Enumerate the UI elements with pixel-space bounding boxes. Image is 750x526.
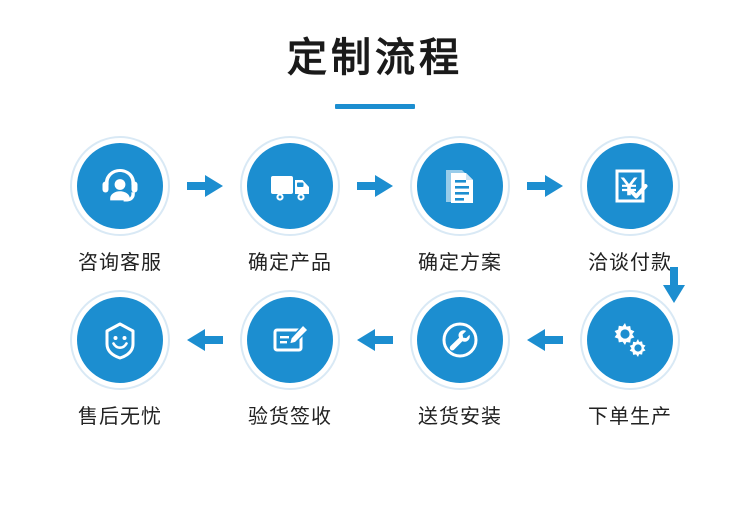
flow-step-inspection[interactable]: 验货签收 [234, 297, 346, 429]
arrow-right-icon [187, 175, 223, 197]
arrow-left-icon [527, 329, 563, 351]
wrench-install-icon [435, 315, 485, 365]
connector-arrow-down [654, 265, 694, 305]
flow-step-install[interactable]: 送货安装 [404, 297, 516, 429]
connector-arrow-left [176, 297, 234, 383]
flow-step-icon-circle [77, 297, 163, 383]
arrow-right-icon [527, 175, 563, 197]
flow-step-label: 验货签收 [248, 400, 332, 429]
payment-yuan-check-icon [605, 161, 655, 211]
flow-step-label: 下单生产 [588, 400, 672, 429]
flow-step-label: 咨询客服 [78, 246, 162, 275]
connector-arrow-right [516, 143, 574, 229]
connector-arrow-left [346, 297, 404, 383]
truck-delivery-icon [265, 161, 315, 211]
flow-step-aftersales[interactable]: 售后无忧 [64, 297, 176, 429]
shield-smile-icon [95, 315, 145, 365]
flow-step-label: 送货安装 [418, 400, 502, 429]
title-underline [335, 104, 415, 109]
flow-step-label: 售后无忧 [78, 400, 162, 429]
connector-arrow-right [346, 143, 404, 229]
flow-step-label: 确定方案 [418, 246, 502, 275]
connector-arrow-right [176, 143, 234, 229]
flow-row-bottom: 售后无忧 [0, 297, 750, 429]
flow-step-icon-circle [77, 143, 163, 229]
connector-arrow-left [516, 297, 574, 383]
arrow-right-icon [357, 175, 393, 197]
document-plan-icon [435, 161, 485, 211]
flow-step-icon-circle [417, 143, 503, 229]
flow-step-payment[interactable]: 洽谈付款 [574, 143, 686, 275]
arrow-down-icon [663, 267, 685, 303]
flow-step-icon-circle [587, 143, 673, 229]
flow-step-icon-circle [587, 297, 673, 383]
flow-diagram: 咨询客服 [0, 143, 750, 429]
flow-step-consult[interactable]: 咨询客服 [64, 143, 176, 275]
customization-flow-page: 定制流程 [0, 0, 750, 526]
flow-step-icon-circle [417, 297, 503, 383]
page-title: 定制流程 [0, 0, 750, 80]
flow-step-production[interactable]: 下单生产 [574, 297, 686, 429]
flow-step-label: 确定产品 [248, 246, 332, 275]
flow-step-icon-circle [247, 297, 333, 383]
gears-production-icon [605, 315, 655, 365]
flow-step-icon-circle [247, 143, 333, 229]
flow-step-product[interactable]: 确定产品 [234, 143, 346, 275]
sign-receipt-icon [265, 315, 315, 365]
flow-step-plan[interactable]: 确定方案 [404, 143, 516, 275]
arrow-left-icon [187, 329, 223, 351]
headset-support-icon [95, 161, 145, 211]
flow-row-top: 咨询客服 [0, 143, 750, 275]
arrow-left-icon [357, 329, 393, 351]
